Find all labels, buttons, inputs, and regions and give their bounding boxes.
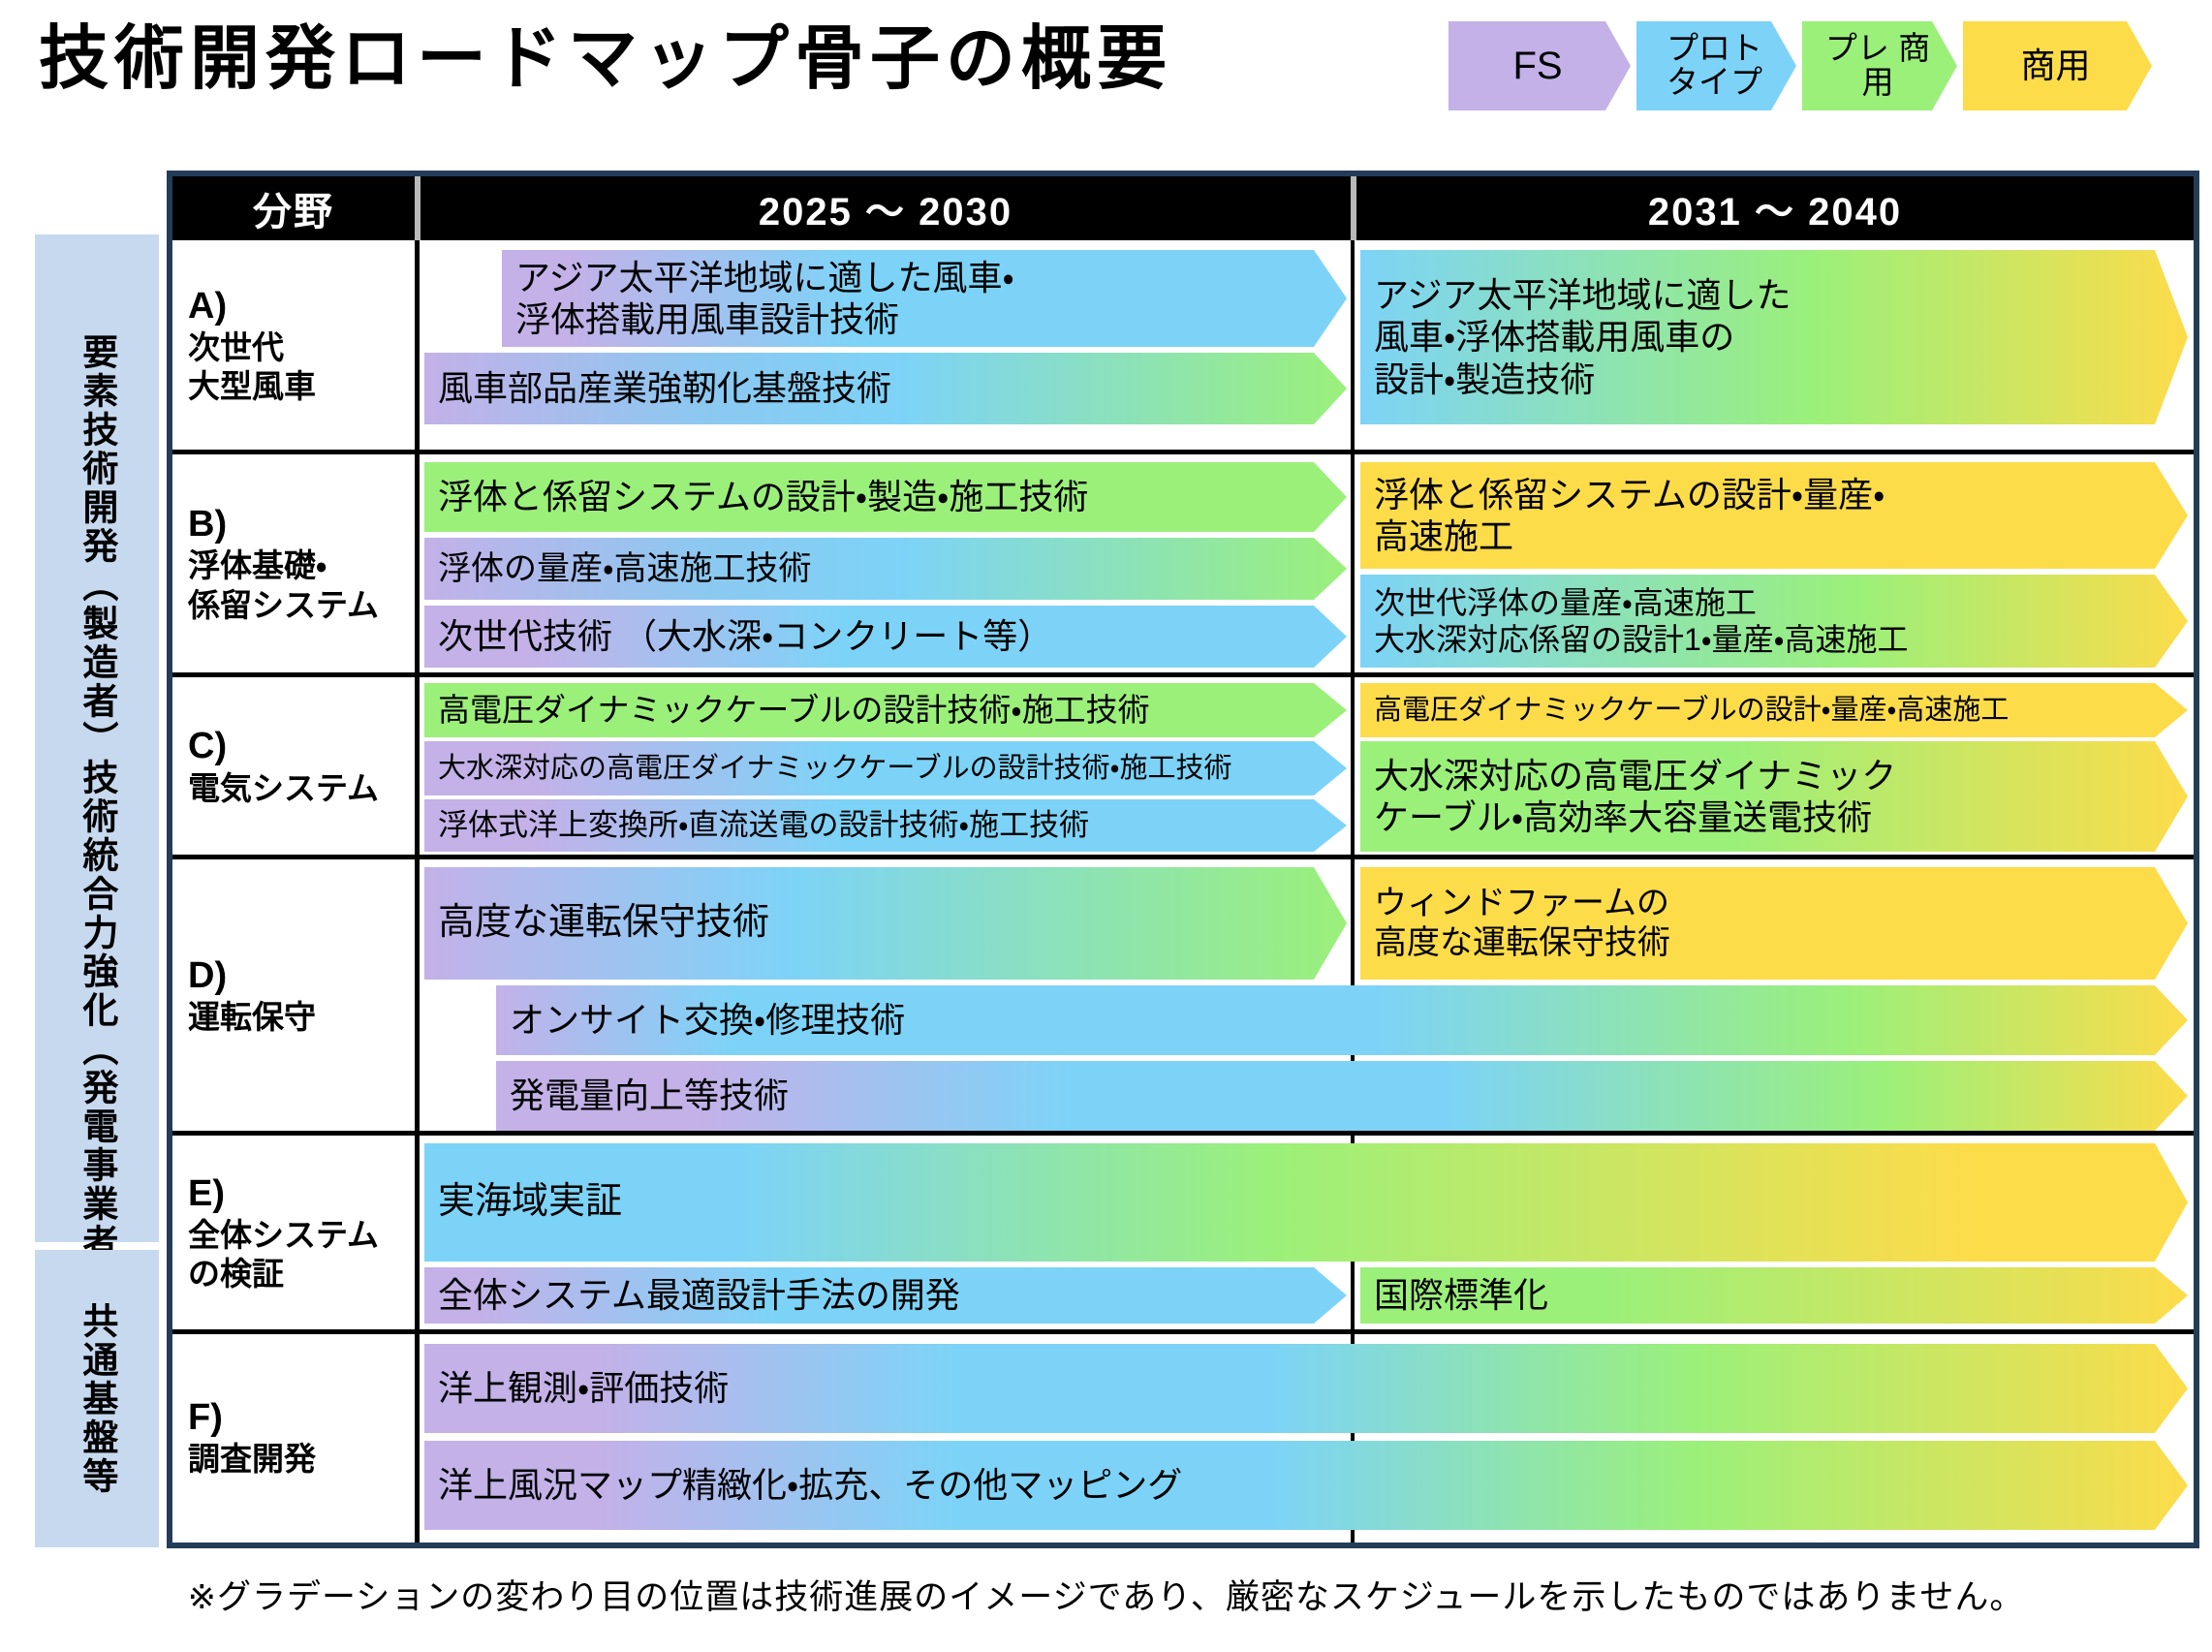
legend: FS プロト タイプ プレ 商用 商用: [1449, 21, 2158, 110]
roadmap-bar: ウィンドファームの 高度な運転保守技術: [1360, 867, 2188, 980]
category-cell-e: E)全体システム の検証: [172, 1136, 415, 1329]
roadmap-bar: 洋上風況マップ精緻化・拡充、その他マッピング: [424, 1441, 2188, 1530]
roadmap-bar: 次世代技術 （大水深・コンクリート等）: [424, 606, 1347, 668]
roadmap-bar: 高度な運転保守技術: [424, 867, 1347, 980]
legend-chip-fs: FS: [1449, 21, 1631, 110]
category-letter: B): [188, 502, 415, 546]
side-group-common-base: 共通基盤等: [35, 1250, 159, 1547]
legend-chip-commercial: 商用: [1963, 21, 2152, 110]
table-row: C)電気システム高電圧ダイナミックケーブルの設計技術・施工技術大水深対応の高電圧…: [172, 677, 2194, 855]
header-period-2: 2031 ～ 2040: [1356, 176, 2194, 240]
roadmap-bar: 国際標準化: [1360, 1267, 2188, 1324]
category-letter: E): [188, 1171, 415, 1216]
roadmap-bar: 高電圧ダイナミックケーブルの設計技術・施工技術: [424, 683, 1347, 737]
side-group-integration: 技術統合力強化（発電事業者等）: [35, 856, 159, 1242]
roadmap-bar: 大水深対応の高電圧ダイナミックケーブルの設計技術・施工技術: [424, 741, 1347, 795]
category-cell-b: B)浮体基礎・ 係留システム: [172, 454, 415, 672]
legend-label-fs: FS: [1512, 46, 1562, 86]
roadmap-bar: 高電圧ダイナミックケーブルの設計・量産・高速施工: [1360, 683, 2188, 737]
category-name: 運転保守: [188, 998, 415, 1037]
roadmap-bar: 大水深対応の高電圧ダイナミック ケーブル・高効率大容量送電技術: [1360, 741, 2188, 852]
footnote: ※グラデーションの変わり目の位置は技術進展のイメージであり、厳密なスケジュールを…: [0, 1570, 2212, 1619]
roadmap-bar: 浮体と係留システムの設計・製造・施工技術: [424, 462, 1347, 532]
legend-label-pre-commercial: プレ 商用: [1816, 32, 1940, 99]
category-cell-d: D)運転保守: [172, 859, 415, 1131]
header-category: 分野: [172, 176, 415, 240]
roadmap-table: 分野 2025 ～ 2030 2031 ～ 2040 A)次世代 大型風車アジア…: [167, 171, 2199, 1548]
category-cell-c: C)電気システム: [172, 677, 415, 855]
roadmap-bar: 浮体と係留システムの設計・量産・ 高速施工: [1360, 462, 2188, 569]
category-letter: D): [188, 953, 415, 998]
table-row: B)浮体基礎・ 係留システム浮体と係留システムの設計・製造・施工技術浮体の量産・…: [172, 454, 2194, 672]
category-cell-f: F)調査開発: [172, 1334, 415, 1540]
category-cell-a: A)次世代 大型風車: [172, 240, 415, 450]
roadmap-bar: 風車部品産業強靭化基盤技術: [424, 353, 1347, 424]
roadmap-bar: 次世代浮体の量産・高速施工 大水深対応係留の設計1・量産・高速施工: [1360, 575, 2188, 668]
side-group-label: 要素技術開発（製造者）: [76, 333, 118, 760]
header-period-1: 2025 ～ 2030: [421, 176, 1351, 240]
side-group-label: 共通基盤等: [76, 1302, 118, 1496]
page-title: 技術開発ロードマップ骨子の概要: [39, 21, 1172, 98]
legend-label-prototype: プロト タイプ: [1650, 32, 1779, 99]
category-name: 全体システム の検証: [188, 1216, 415, 1294]
roadmap-bar: 実海域実証: [424, 1143, 2188, 1262]
category-letter: C): [188, 724, 415, 768]
category-name: 電気システム: [188, 769, 415, 808]
roadmap-bar: オンサイト交換・修理技術: [496, 985, 2188, 1055]
legend-chip-prototype: プロト タイプ: [1636, 21, 1796, 110]
table-header-band: 分野 2025 ～ 2030 2031 ～ 2040: [172, 176, 2194, 240]
category-name: 調査開発: [188, 1440, 415, 1479]
table-row: F)調査開発洋上観測・評価技術洋上風況マップ精緻化・拡充、その他マッピング: [172, 1334, 2194, 1540]
table-row: E)全体システム の検証実海域実証全体システム最適設計手法の開発国際標準化: [172, 1136, 2194, 1329]
roadmap-bar: 洋上観測・評価技術: [424, 1344, 2188, 1433]
table-row: A)次世代 大型風車アジア太平洋地域に適した風車・ 浮体搭載用風車設計技術風車部…: [172, 240, 2194, 450]
roadmap-bar: 浮体式洋上変換所・直流送電の設計技術・施工技術: [424, 799, 1347, 852]
category-name: 次世代 大型風車: [188, 328, 415, 407]
category-letter: F): [188, 1395, 415, 1440]
category-letter: A): [188, 284, 415, 328]
roadmap-bar: アジア太平洋地域に適した風車・ 浮体搭載用風車設計技術: [502, 250, 1347, 347]
legend-label-commercial: 商用: [2020, 47, 2090, 84]
category-name: 浮体基礎・ 係留システム: [188, 546, 415, 625]
roadmap-bar: 全体システム最適設計手法の開発: [424, 1267, 1347, 1324]
roadmap-bar: 発電量向上等技術: [496, 1061, 2188, 1131]
title-bar: 技術開発ロードマップ骨子の概要 FS プロト タイプ プレ 商用 商用: [0, 0, 2212, 126]
legend-chip-pre-commercial: プレ 商用: [1802, 21, 1957, 110]
table-row: D)運転保守高度な運転保守技術ウィンドファームの 高度な運転保守技術オンサイト交…: [172, 859, 2194, 1131]
roadmap-bar: アジア太平洋地域に適した 風車・浮体搭載用風車の 設計・製造技術: [1360, 250, 2188, 424]
roadmap-bar: 浮体の量産・高速施工技術: [424, 538, 1347, 600]
